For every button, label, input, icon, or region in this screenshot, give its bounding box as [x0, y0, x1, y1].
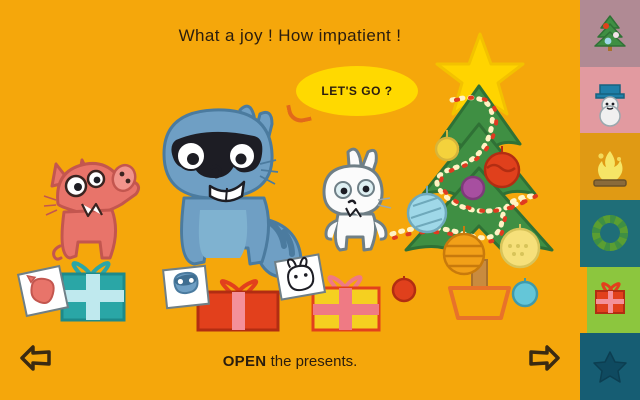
christmas-tree-icon — [592, 13, 628, 53]
previous-page-arrow[interactable] — [16, 338, 56, 378]
scene-selector-sidebar — [580, 0, 640, 400]
instruction-verb: OPEN — [223, 353, 267, 370]
star-icon — [592, 349, 628, 385]
tile-star[interactable] — [580, 333, 640, 400]
gift-teal[interactable] — [58, 262, 130, 324]
next-page-arrow[interactable] — [524, 338, 564, 378]
tile-wreath[interactable] — [580, 200, 640, 267]
character-raccoon[interactable] — [148, 100, 318, 270]
scene-canvas: What a joy ! How impatient ! LET'S GO ? — [0, 0, 580, 400]
card-raccoon[interactable] — [161, 264, 211, 311]
character-pig[interactable] — [38, 142, 143, 262]
app-stage: What a joy ! How impatient ! LET'S GO ? — [0, 0, 640, 400]
character-rabbit[interactable] — [316, 146, 398, 262]
campfire-icon — [591, 147, 629, 187]
christmas-tree[interactable] — [392, 28, 567, 318]
tile-fire[interactable] — [580, 133, 640, 200]
tile-snowman[interactable] — [580, 67, 640, 134]
card-pig[interactable] — [16, 264, 71, 319]
snowman-icon — [592, 79, 628, 121]
wreath-icon — [591, 214, 629, 252]
instruction-rest: the presents. — [266, 353, 357, 370]
gift-icon — [592, 282, 628, 318]
instruction-caption: OPEN the presents. — [0, 353, 580, 370]
card-rabbit[interactable] — [273, 252, 328, 302]
tile-gift[interactable] — [580, 267, 640, 334]
tile-tree[interactable] — [580, 0, 640, 67]
